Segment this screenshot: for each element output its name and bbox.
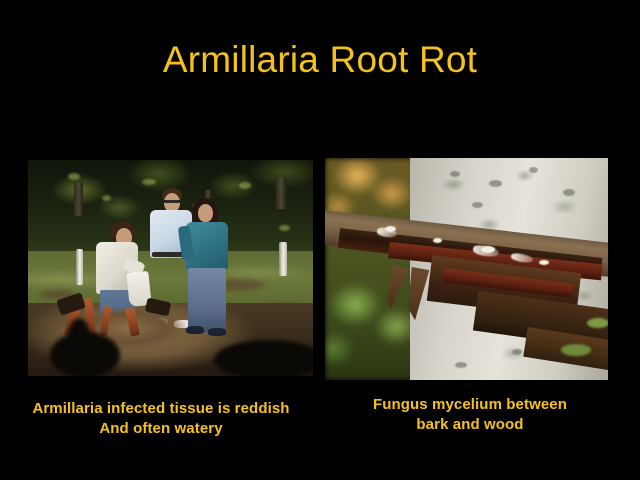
foreground-shadow [68, 318, 90, 356]
foreground-shadow [214, 340, 313, 376]
green-leaf-debris [561, 344, 591, 356]
canopy-light-speck [239, 182, 251, 189]
head [198, 204, 213, 222]
tree-trunk [276, 177, 286, 209]
caption-right-photo: Fungus mycelium between bark and wood [324, 395, 616, 435]
page-title: Armillaria Root Rot [0, 38, 640, 82]
caption-left-line2: And often watery [0, 419, 322, 439]
caption-left-photo: Armillaria infected tissue is reddish An… [0, 399, 322, 439]
bark-scene [325, 158, 608, 380]
bark-lichen-speck [529, 167, 538, 173]
tree-trunk [74, 182, 83, 216]
eyeglasses [164, 200, 180, 203]
green-leaf-debris [587, 318, 608, 328]
mycelium-patch [385, 226, 396, 232]
caption-right-line1: Fungus mycelium between [324, 395, 616, 415]
bark-lichen-speck [563, 189, 575, 196]
orchard-scene [28, 160, 313, 376]
painted-trunk [76, 249, 83, 285]
canopy-light-speck [102, 195, 111, 201]
painted-trunk [279, 242, 287, 276]
canopy-light-speck [68, 173, 80, 180]
orchard-excavation-photo [28, 160, 313, 376]
slide-canvas: Armillaria Root Rot [0, 0, 640, 480]
canopy-light-speck [279, 225, 290, 231]
mycelium-patch [481, 246, 495, 253]
bark-mycelium-photo [325, 158, 608, 380]
caption-right-line2: bark and wood [324, 415, 616, 435]
mycelium-patch [433, 238, 442, 243]
caption-left-line1: Armillaria infected tissue is reddish [0, 399, 322, 419]
mycelium-patch [539, 260, 549, 265]
bark-lichen-speck [512, 349, 522, 355]
